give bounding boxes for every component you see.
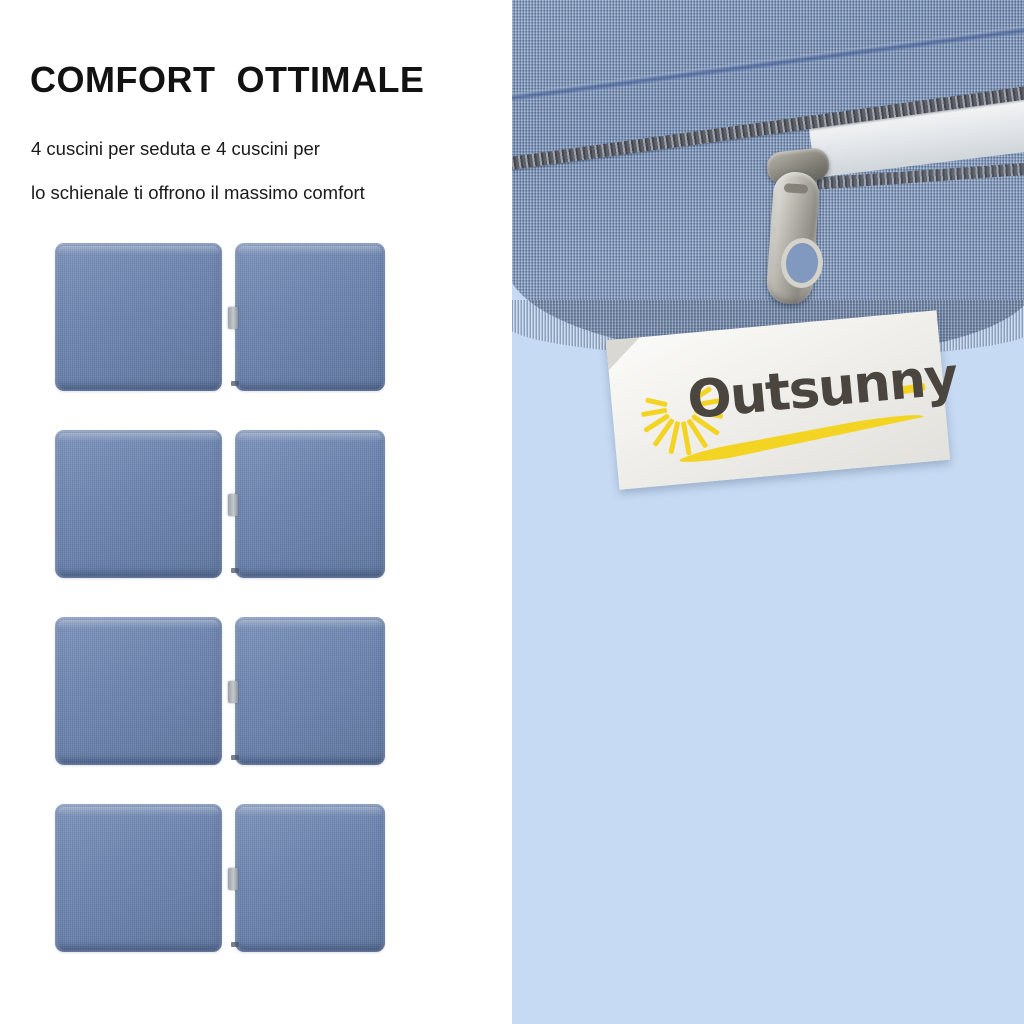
subtitle-line-1: 4 cuscini per seduta e 4 cuscini per: [31, 138, 501, 160]
cushion-back-1: [235, 243, 385, 391]
cushion-tab-icon: [228, 494, 238, 516]
fabric-closeup-photo: [512, 0, 1024, 362]
cushion-seat-1: [55, 243, 222, 391]
left-panel: COMFORT OTTIMALE 4 cuscini per seduta e …: [0, 0, 512, 1024]
brand-wordmark: Outsunny: [685, 347, 959, 431]
cushion-seat-3: [55, 617, 222, 765]
cushion-row: [55, 243, 385, 391]
cushion-seat-2: [55, 430, 222, 578]
cushion-back-3: [235, 617, 385, 765]
zipper-pull-slot-icon: [784, 183, 809, 194]
cushion-grid: [55, 243, 385, 953]
cushion-back-2: [235, 430, 385, 578]
cushion-tab-icon: [228, 307, 238, 329]
cushion-seam-icon: [231, 755, 239, 760]
outsunny-brand-tag: Outsunny: [606, 310, 950, 489]
page-title: COMFORT OTTIMALE: [30, 60, 490, 100]
right-panel: Outsunny Rivestimento lavabile: [512, 0, 1024, 1024]
cushion-seat-4: [55, 804, 222, 952]
cushion-row: [55, 430, 385, 578]
cushion-tab-icon: [228, 868, 238, 890]
cushion-seam-icon: [231, 381, 239, 386]
tag-folded-corner: [606, 337, 643, 370]
cushion-tab-icon: [228, 681, 238, 703]
cushion-row: [55, 804, 385, 952]
cushion-row: [55, 617, 385, 765]
cushion-seam-icon: [231, 942, 239, 947]
subtitle-line-2: lo schienale ti offrono il massimo comfo…: [31, 182, 501, 204]
infographic-canvas: COMFORT OTTIMALE 4 cuscini per seduta e …: [0, 0, 1024, 1024]
cushion-back-4: [235, 804, 385, 952]
cushion-seam-icon: [231, 568, 239, 573]
